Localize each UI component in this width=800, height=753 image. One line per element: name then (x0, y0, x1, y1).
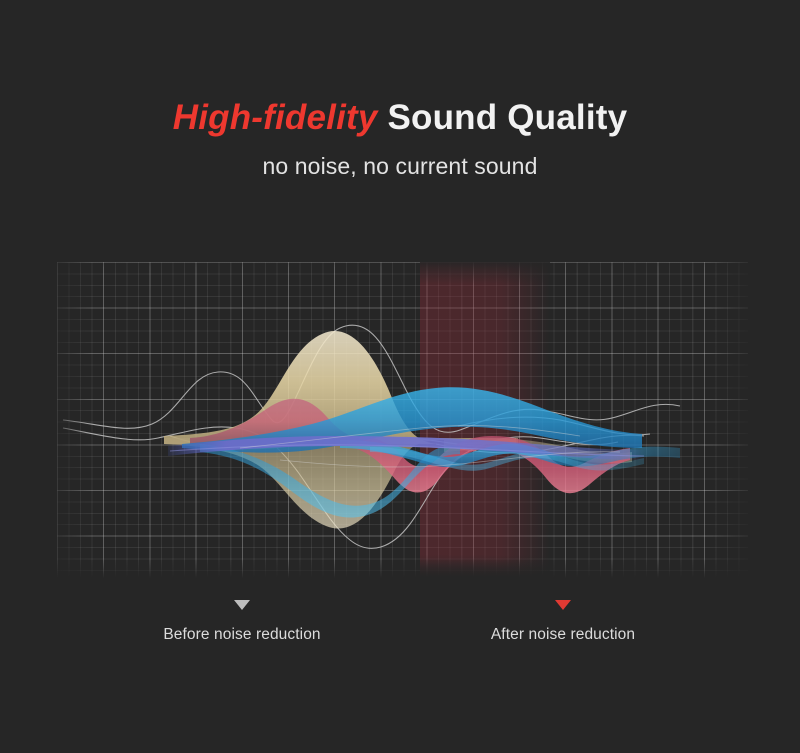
heading-block: High-fidelity Sound Quality no noise, no… (0, 0, 800, 180)
chart-plot-area (40, 248, 760, 578)
legend-label-after: After noise reduction (443, 626, 683, 644)
legend-label-before: Before noise reduction (122, 626, 362, 644)
legend-item-after: After noise reduction (443, 600, 683, 644)
page-subtitle: no noise, no current sound (0, 153, 800, 180)
page-title: High-fidelity Sound Quality (0, 98, 800, 138)
legend-item-before: Before noise reduction (122, 600, 362, 644)
triangle-down-icon (555, 600, 571, 610)
waveform-graphic (40, 248, 760, 578)
promo-panel: High-fidelity Sound Quality no noise, no… (0, 0, 800, 753)
waveform-chart (40, 248, 760, 578)
triangle-down-icon (234, 600, 250, 610)
page-title-accent: High-fidelity (173, 98, 378, 137)
page-title-rest: Sound Quality (378, 98, 628, 137)
